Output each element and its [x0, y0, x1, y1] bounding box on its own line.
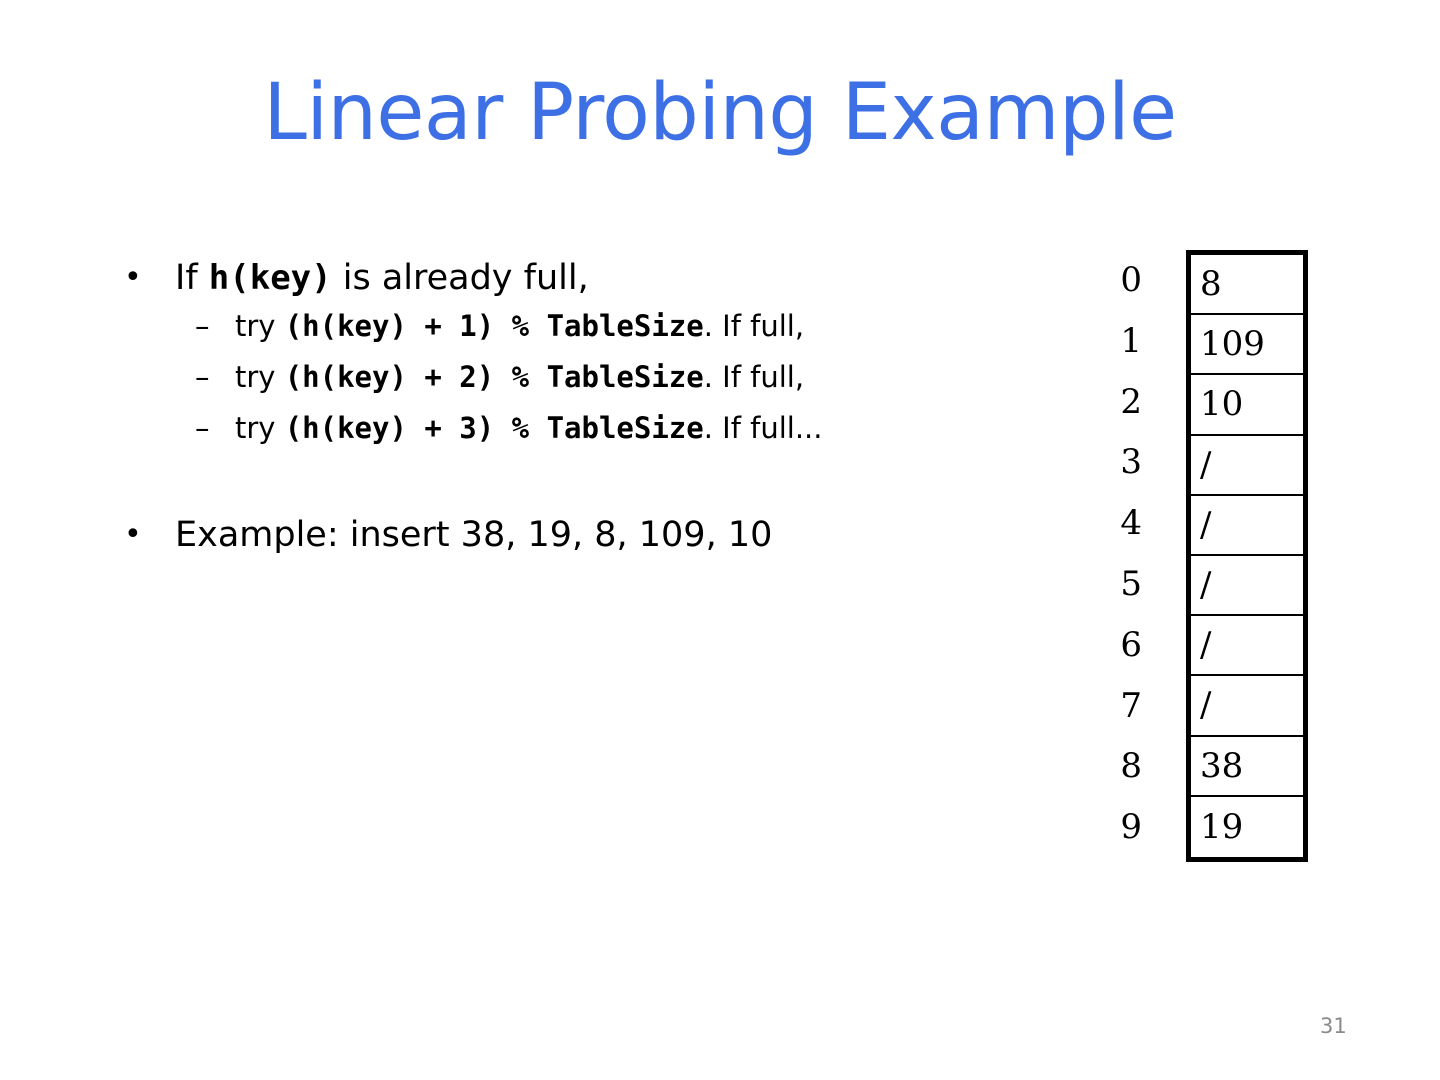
slide-body: •If h(key) is already full, –try (h(key)…: [118, 255, 1048, 558]
dash-marker-icon: –: [195, 352, 210, 403]
sub-bullet-code: (h(key) + 3) % TableSize: [285, 411, 704, 445]
body-spacer: [118, 454, 1048, 512]
sub-bullet-text-part1: try: [235, 309, 285, 343]
hash-table-cells: 8 109 10 / / / / / 38 19: [1186, 250, 1308, 862]
sub-bullet-text-part2: . If full...: [704, 411, 823, 445]
index-label: 1: [1050, 311, 1170, 372]
table-cell: /: [1191, 496, 1303, 556]
index-label: 6: [1050, 615, 1170, 676]
sub-bullet-code: (h(key) + 2) % TableSize: [285, 360, 704, 394]
index-label: 3: [1050, 432, 1170, 493]
bullet-code-hkey: h(key): [209, 258, 332, 298]
bullet-marker-icon: •: [124, 255, 142, 301]
bullet-item-condition: •If h(key) is already full,: [118, 255, 1048, 301]
bullet-text-example: Example: insert 38, 19, 8, 109, 10: [175, 515, 772, 555]
bullet-text-part2: is already full,: [332, 258, 589, 298]
sub-bullet-text-part1: try: [235, 360, 285, 394]
sub-bullet-code: (h(key) + 1) % TableSize: [285, 309, 704, 343]
table-cell: 109: [1191, 315, 1303, 375]
page-number: 31: [1320, 1014, 1347, 1038]
table-cell: 8: [1191, 255, 1303, 315]
index-label: 4: [1050, 493, 1170, 554]
index-label: 8: [1050, 736, 1170, 797]
table-cell: /: [1191, 436, 1303, 496]
slide-title: Linear Probing Example: [0, 74, 1440, 152]
sub-bullet-probe-1: –try (h(key) + 1) % TableSize. If full,: [118, 301, 1048, 352]
table-cell: /: [1191, 616, 1303, 676]
table-cell: /: [1191, 676, 1303, 736]
bullet-item-example: •Example: insert 38, 19, 8, 109, 10: [118, 512, 1048, 558]
index-label: 5: [1050, 554, 1170, 615]
dash-marker-icon: –: [195, 301, 210, 352]
table-cell: 19: [1191, 797, 1303, 857]
sub-bullet-text-part1: try: [235, 411, 285, 445]
dash-marker-icon: –: [195, 403, 210, 454]
sub-bullet-text-part2: . If full,: [704, 309, 804, 343]
index-label: 7: [1050, 676, 1170, 737]
sub-bullet-probe-2: –try (h(key) + 2) % TableSize. If full,: [118, 352, 1048, 403]
hash-table-diagram: 0 1 2 3 4 5 6 7 8 9 8 109 10 / / / / / 3…: [1050, 250, 1320, 862]
bullet-text-part1: If: [175, 258, 209, 298]
table-cell: /: [1191, 556, 1303, 616]
sub-bullet-probe-3: –try (h(key) + 3) % TableSize. If full..…: [118, 403, 1048, 454]
table-cell: 10: [1191, 375, 1303, 435]
index-label: 0: [1050, 250, 1170, 311]
bullet-marker-icon: •: [124, 512, 142, 558]
index-label: 2: [1050, 372, 1170, 433]
hash-table-index-column: 0 1 2 3 4 5 6 7 8 9: [1050, 250, 1170, 862]
sub-bullet-text-part2: . If full,: [704, 360, 804, 394]
table-cell: 38: [1191, 737, 1303, 797]
index-label: 9: [1050, 797, 1170, 858]
